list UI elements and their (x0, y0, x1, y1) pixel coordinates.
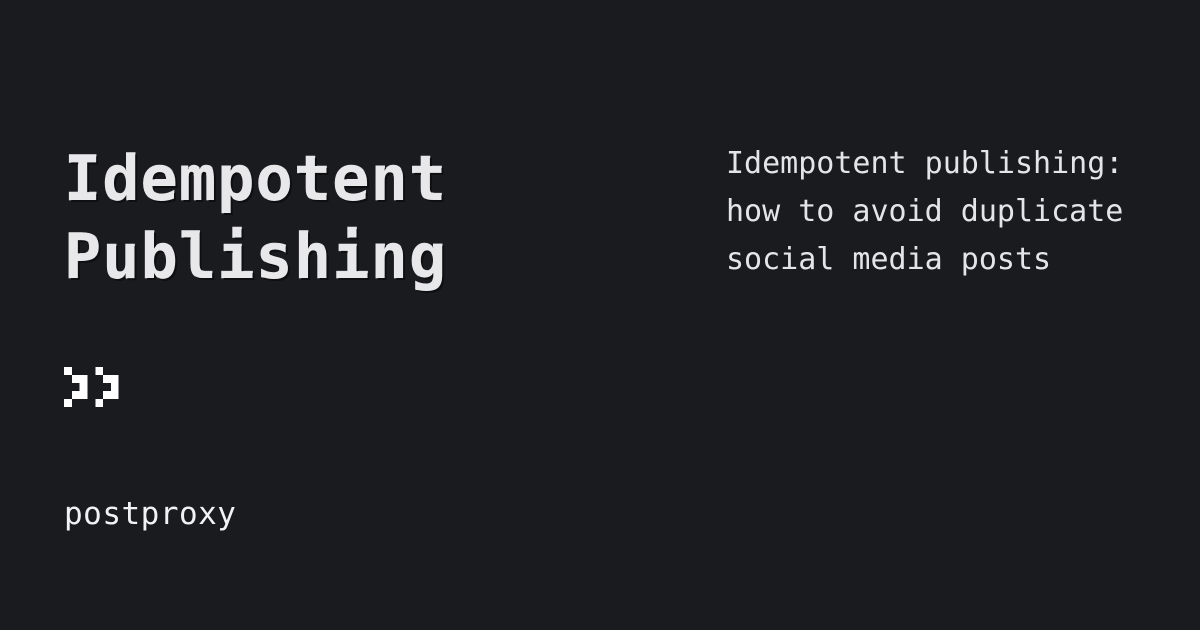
og-card: Idempotent Publishing postproxy (0, 0, 1200, 630)
headline-line-1: Idempotent (64, 140, 664, 218)
description-line-3: social media posts (726, 236, 1146, 284)
headline: Idempotent Publishing (64, 140, 664, 296)
description-line-1: Idempotent publishing: (726, 140, 1146, 188)
double-chevron-icon (64, 367, 150, 415)
headline-line-2: Publishing (64, 218, 664, 296)
description: Idempotent publishing: how to avoid dupl… (726, 140, 1146, 284)
chevron-2 (95, 367, 118, 407)
brand-wordmark: postproxy (64, 496, 236, 532)
chevron-1 (64, 367, 87, 407)
description-line-2: how to avoid duplicate (726, 188, 1146, 236)
double-chevron-icon-svg (64, 367, 150, 415)
